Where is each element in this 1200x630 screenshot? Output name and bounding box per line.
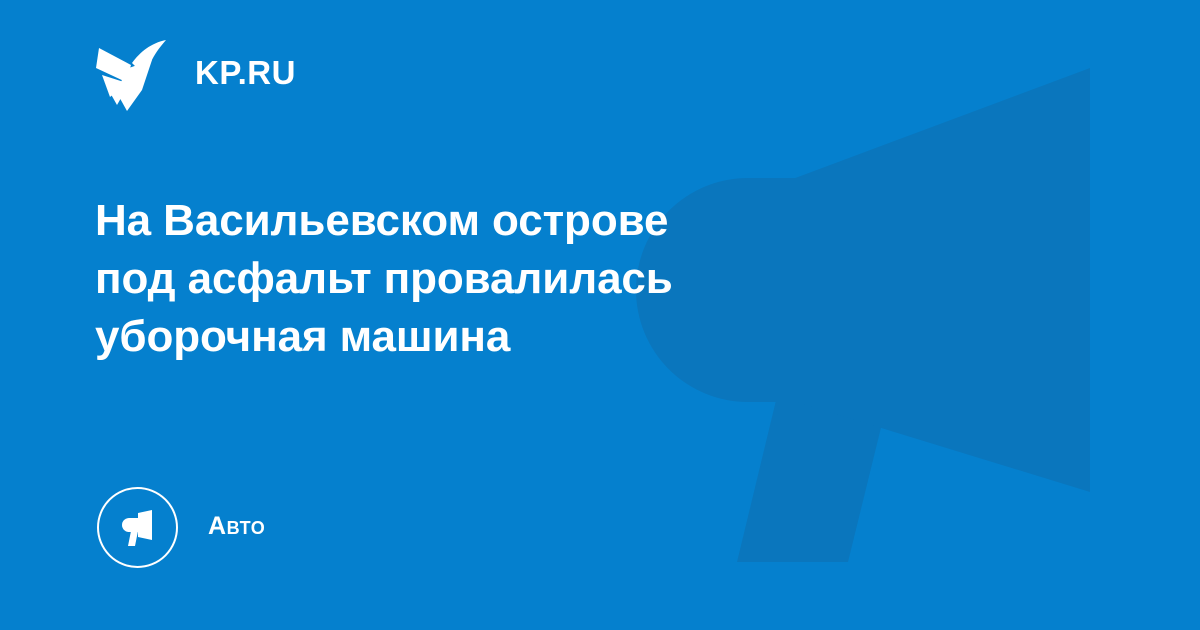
- headline-line-3: уборочная машина: [95, 308, 885, 366]
- swallow-bird-logo-icon: [96, 35, 168, 113]
- headline-line-1: На Васильевском острове: [95, 192, 885, 250]
- rubric[interactable]: Авто: [97, 487, 265, 568]
- rubric-label: Авто: [208, 514, 265, 541]
- headline: На Васильевском острове под асфальт пров…: [95, 192, 885, 366]
- brand-wordmark: KP.RU: [195, 56, 296, 92]
- headline-line-2: под асфальт провалилась: [95, 250, 885, 308]
- rubric-badge: [97, 487, 178, 568]
- social-share-card: KP.RU На Васильевском острове под асфаль…: [0, 0, 1200, 630]
- brand-lockup[interactable]: KP.RU: [96, 34, 296, 114]
- megaphone-icon: [117, 507, 159, 549]
